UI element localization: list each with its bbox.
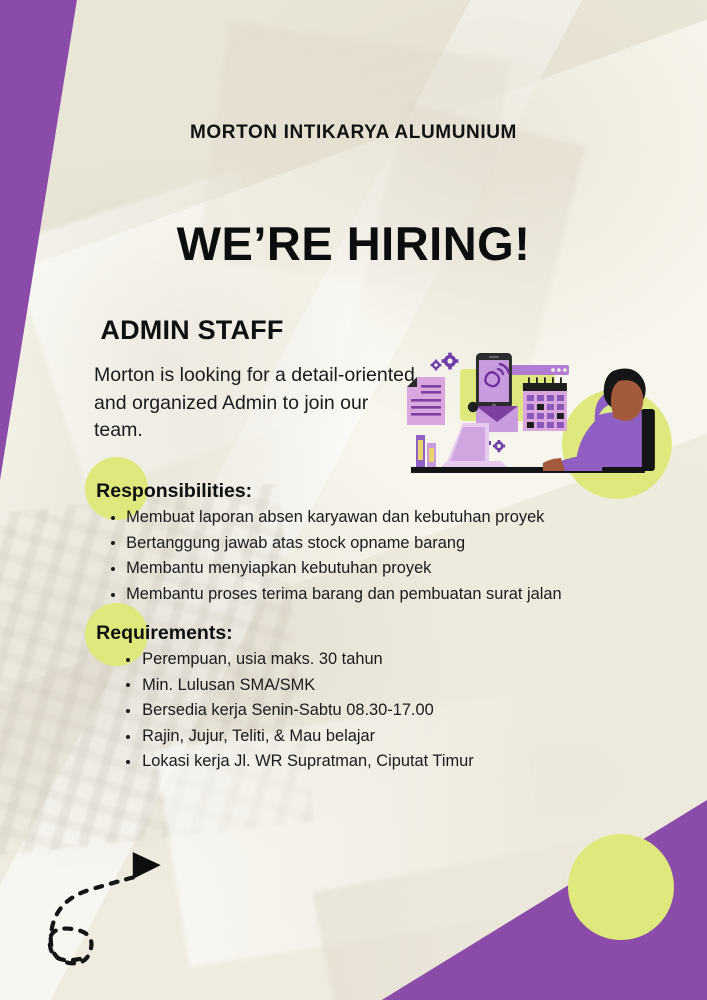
hiring-poster: MORTON INTIKARYA ALUMUNIUM WE’RE HIRING!…: [0, 0, 707, 1000]
dashed-curved-arrow: [17, 834, 187, 974]
arrow-path: [50, 877, 135, 963]
requirements-section: Requirements: Perempuan, usia maks. 30 t…: [96, 622, 474, 775]
document-icon: [407, 377, 445, 425]
gear-icon: [431, 353, 459, 371]
list-item: Membantu proses terima barang dan pembua…: [126, 582, 562, 608]
intro-paragraph: Morton is looking for a detail-oriented …: [94, 362, 419, 445]
company-name: MORTON INTIKARYA ALUMUNIUM: [0, 122, 707, 144]
browser-window-icon: [511, 365, 569, 375]
list-item: Rajin, Jujur, Teliti, & Mau belajar: [142, 724, 474, 750]
books-icon: [416, 435, 436, 467]
calendar-icon: [523, 378, 567, 431]
responsibilities-heading: Responsibilities:: [96, 480, 562, 503]
lime-circle-bottom-right: [568, 834, 674, 940]
requirements-list: Perempuan, usia maks. 30 tahun Min. Lulu…: [96, 647, 474, 775]
list-item: Perempuan, usia maks. 30 tahun: [142, 647, 474, 673]
list-item: Min. Lulusan SMA/SMK: [142, 673, 474, 699]
list-item: Membantu menyiapkan kebutuhan proyek: [126, 556, 562, 582]
admin-working-at-desk-illustration: [403, 326, 693, 501]
smartphone-call-icon: [476, 353, 512, 409]
responsibilities-section: Responsibilities: Membuat laporan absen …: [96, 480, 562, 607]
role-title: ADMIN STAFF: [100, 315, 283, 346]
list-item: Lokasi kerja Jl. WR Supratman, Ciputat T…: [142, 749, 474, 775]
desk-surface: [411, 467, 637, 473]
list-item: Bersedia kerja Senin-Sabtu 08.30-17.00: [142, 698, 474, 724]
arrow-head: [133, 852, 161, 879]
responsibilities-list: Membuat laporan absen karyawan dan kebut…: [96, 505, 562, 607]
headline: WE’RE HIRING!: [0, 216, 707, 271]
requirements-heading: Requirements:: [96, 622, 474, 645]
list-item: Membuat laporan absen karyawan dan kebut…: [126, 505, 562, 531]
list-item: Bertanggung jawab atas stock opname bara…: [126, 531, 562, 557]
